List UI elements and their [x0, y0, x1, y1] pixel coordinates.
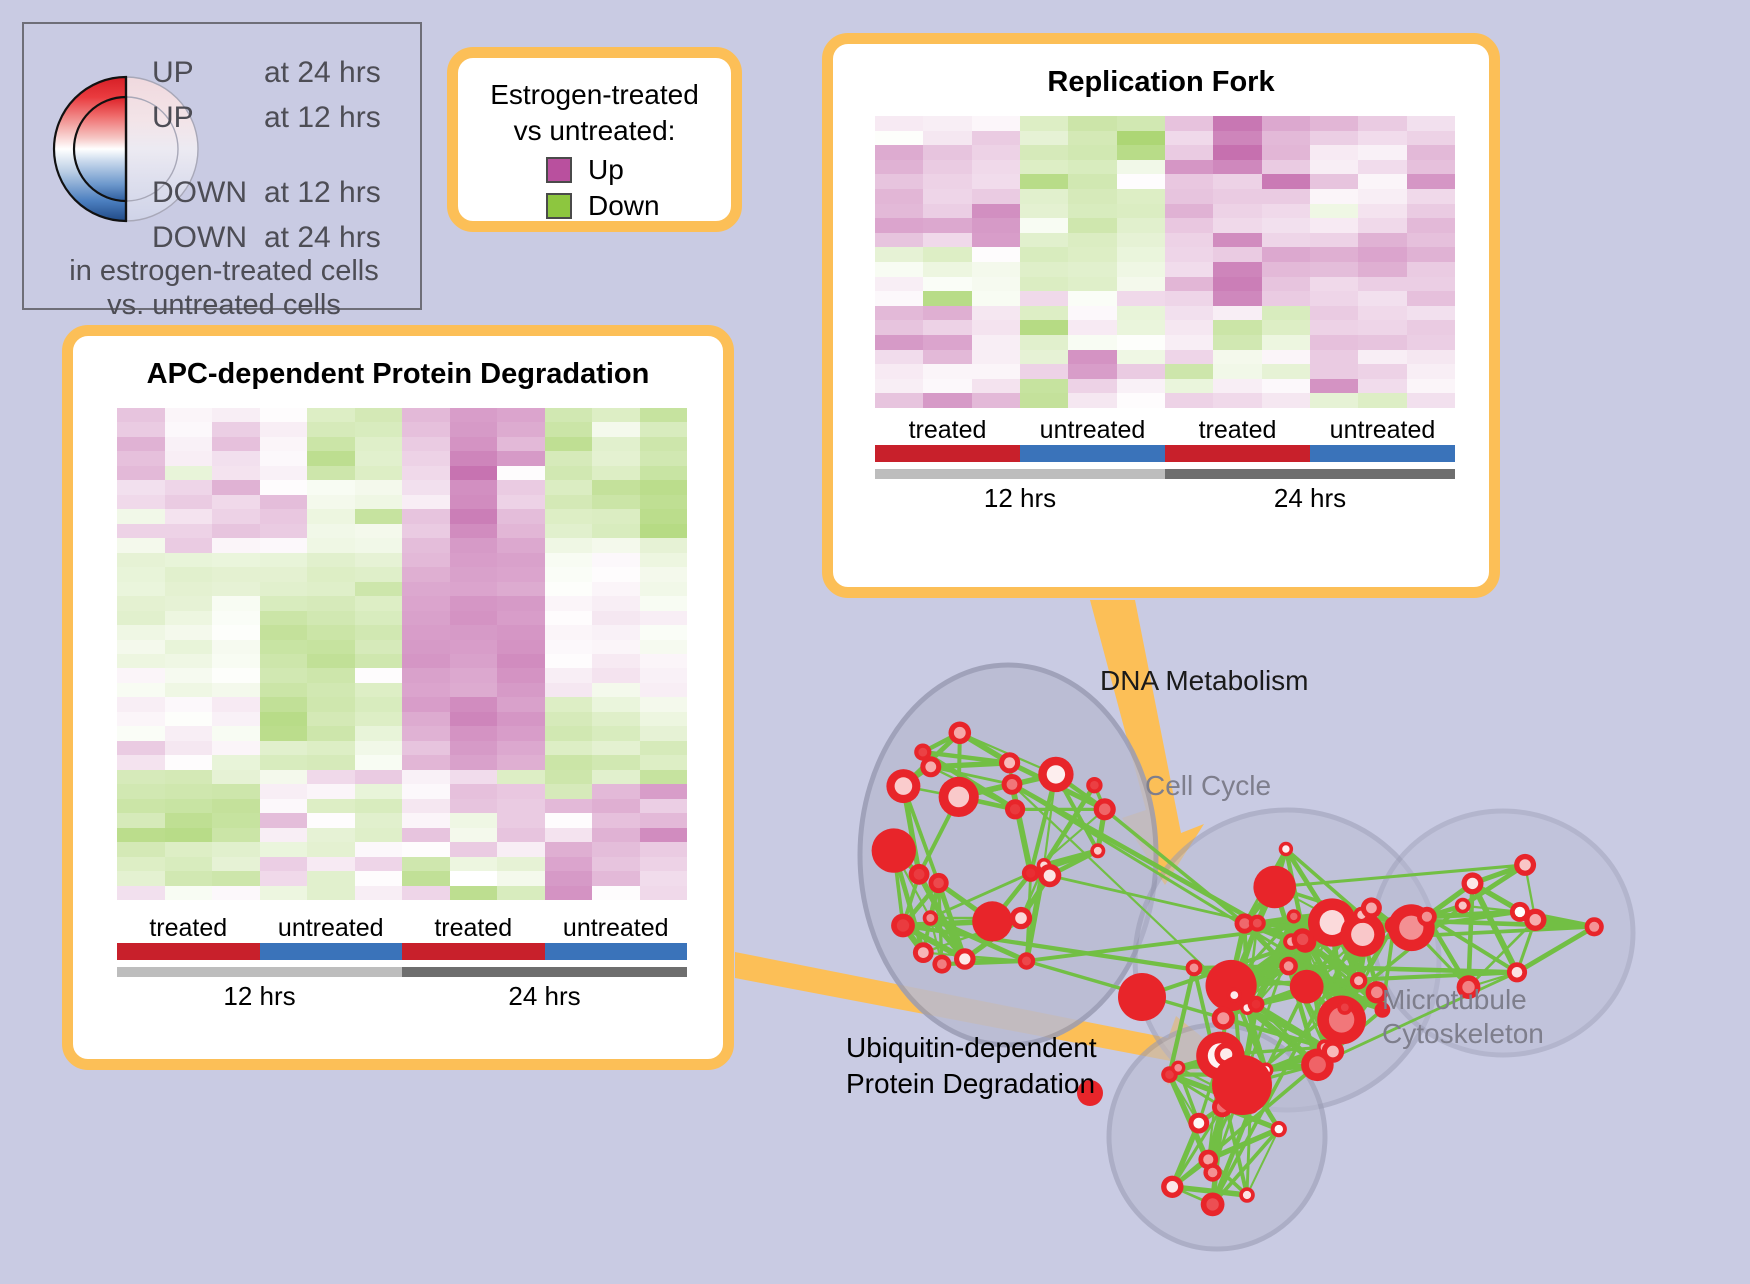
- heatmap-cell: [1262, 189, 1310, 204]
- node-inner-fill: [926, 914, 934, 922]
- heatmap-cell: [212, 799, 260, 813]
- heatmap-cell: [592, 596, 640, 610]
- heatmap-cell: [260, 726, 308, 740]
- heatmap-cell: [1117, 350, 1165, 365]
- heatmap-cell: [592, 697, 640, 711]
- heatmap-cell: [545, 683, 593, 697]
- timepoint-bar-segment: [402, 967, 687, 977]
- heatmap-cell: [117, 422, 165, 436]
- heatmap-cell: [117, 567, 165, 581]
- network-node[interactable]: [1350, 972, 1367, 989]
- heatmap-cell: [117, 770, 165, 784]
- heatmap-cell: [212, 726, 260, 740]
- network-node[interactable]: [1212, 1007, 1235, 1030]
- network-node[interactable]: [1514, 854, 1536, 876]
- heatmap-cell: [592, 408, 640, 422]
- network-node[interactable]: [1038, 757, 1073, 792]
- heatmap-cell: [1165, 174, 1213, 189]
- heatmap-cell: [450, 480, 498, 494]
- network-node[interactable]: [1253, 866, 1296, 909]
- heatmap-cell: [1020, 131, 1068, 146]
- heatmap-cell: [1165, 145, 1213, 160]
- condition-label: untreated: [545, 914, 688, 943]
- network-node[interactable]: [1188, 1113, 1209, 1134]
- heatmap-cell: [165, 755, 213, 769]
- condition-bar-segment: [402, 943, 545, 960]
- network-node[interactable]: [923, 910, 938, 925]
- heatmap-cell: [592, 437, 640, 451]
- heatmap-cell: [165, 422, 213, 436]
- heatmap-cell: [355, 640, 403, 654]
- heatmap-cell: [450, 813, 498, 827]
- network-node[interactable]: [1201, 1193, 1225, 1217]
- legend-item-up: Up: [546, 152, 731, 188]
- heatmap-cell: [307, 640, 355, 654]
- heatmap-cell: [165, 784, 213, 798]
- network-node[interactable]: [1186, 960, 1203, 977]
- node-inner-fill: [1282, 845, 1289, 852]
- network-node[interactable]: [1322, 1040, 1345, 1063]
- network-node[interactable]: [1090, 843, 1105, 858]
- heatmap-cell: [307, 683, 355, 697]
- heatmap-cell: [402, 886, 450, 900]
- node-inner-fill: [897, 919, 909, 931]
- node-inner-fill: [1094, 847, 1102, 855]
- node-outer-ring: [1253, 866, 1296, 909]
- heatmap-cell: [212, 654, 260, 668]
- heatmap-cell: [355, 495, 403, 509]
- node-inner-fill: [948, 787, 969, 808]
- node-inner-fill: [1007, 779, 1018, 790]
- network-node[interactable]: [1086, 777, 1102, 793]
- heatmap-cell: [545, 755, 593, 769]
- heatmap-cell: [592, 654, 640, 668]
- network-node[interactable]: [929, 873, 949, 893]
- network-node[interactable]: [1290, 970, 1324, 1004]
- heatmap-cell: [212, 770, 260, 784]
- heatmap-cell: [1117, 306, 1165, 321]
- heatmap-cell: [212, 495, 260, 509]
- network-node[interactable]: [1287, 909, 1301, 923]
- network-node[interactable]: [1462, 872, 1484, 894]
- heatmap-cell: [497, 582, 545, 596]
- heatmap-cell: [212, 886, 260, 900]
- node-inner-fill: [1044, 870, 1056, 882]
- heatmap-cell: [1117, 189, 1165, 204]
- heatmap-cell: [640, 466, 688, 480]
- heatmap-cell: [545, 784, 593, 798]
- heatmap-cell: [307, 741, 355, 755]
- network-node[interactable]: [1022, 864, 1040, 882]
- heatmap-cell: [355, 842, 403, 856]
- heatmap-cell: [545, 437, 593, 451]
- heatmap-cell: [355, 726, 403, 740]
- heatmap-cell: [1407, 291, 1455, 306]
- node-inner-fill: [914, 869, 925, 880]
- heatmap-cell: [307, 886, 355, 900]
- heatmap-cell: [1117, 364, 1165, 379]
- heatmap-cell: [1310, 160, 1358, 175]
- heatmap-cell: [165, 799, 213, 813]
- heatmap-cell: [875, 393, 923, 408]
- heatmap-cell: [545, 697, 593, 711]
- heatmap-cell: [972, 306, 1020, 321]
- heatmap-cell: [972, 218, 1020, 233]
- spacer: [152, 140, 418, 170]
- heatmap-cell: [1165, 204, 1213, 219]
- heatmap-cell: [1310, 233, 1358, 248]
- heatmap-cell: [212, 451, 260, 465]
- heatmap-cell: [355, 567, 403, 581]
- heatmap-cell: [923, 379, 971, 394]
- node-inner-fill: [1010, 804, 1020, 814]
- heatmap-cell: [450, 596, 498, 610]
- heatmap-cell: [260, 640, 308, 654]
- heatmap-cell: [972, 131, 1020, 146]
- network-node[interactable]: [1094, 798, 1116, 820]
- function-enrichment-network: DNA Metabolism Cell Cycle Microtubule Cy…: [790, 615, 1750, 1279]
- network-node[interactable]: [1507, 962, 1527, 982]
- legend-item-down: Down: [546, 188, 731, 224]
- network-node[interactable]: [954, 948, 976, 970]
- heatmap-cell: [307, 422, 355, 436]
- heatmap-cell: [1407, 277, 1455, 292]
- heatmap-cell: [212, 857, 260, 871]
- heatmap-cell: [450, 697, 498, 711]
- heatmap-cell: [640, 451, 688, 465]
- heatmap-cell: [875, 364, 923, 379]
- network-node[interactable]: [1161, 1176, 1183, 1198]
- heatmap-cell: [307, 567, 355, 581]
- network-node[interactable]: [1279, 842, 1293, 856]
- heatmap-cell: [212, 741, 260, 755]
- heatmap-cell: [1165, 218, 1213, 233]
- heatmap-cell: [497, 755, 545, 769]
- heatmap-cell: [165, 828, 213, 842]
- heatmap-cell: [1262, 218, 1310, 233]
- heatmap-cell: [640, 726, 688, 740]
- heatmap-cell: [1262, 335, 1310, 350]
- heatmap-cell: [592, 726, 640, 740]
- network-node[interactable]: [1227, 988, 1242, 1003]
- heatmap-cell: [1068, 145, 1116, 160]
- heatmap-cell: [450, 755, 498, 769]
- node-inner-fill: [1090, 781, 1099, 790]
- heatmap-cell: [1213, 306, 1261, 321]
- network-node[interactable]: [1455, 898, 1471, 914]
- condition-label: treated: [117, 914, 260, 943]
- heatmap-cell: [307, 582, 355, 596]
- heatmap-cell: [1165, 379, 1213, 394]
- node-inner-fill: [1243, 1191, 1251, 1199]
- network-node[interactable]: [1248, 996, 1265, 1013]
- heatmap-cell: [260, 842, 308, 856]
- heatmap-cell: [260, 495, 308, 509]
- heatmap-cell: [165, 741, 213, 755]
- heatmap-cell: [1213, 291, 1261, 306]
- heatmap-cell: [355, 828, 403, 842]
- heatmap-cell: [212, 466, 260, 480]
- network-node[interactable]: [1279, 957, 1298, 976]
- heatmap-cell: [307, 871, 355, 885]
- heatmap-cell: [923, 131, 971, 146]
- heatmap-cell: [923, 320, 971, 335]
- heatmap-cell: [165, 697, 213, 711]
- heatmap-cell: [545, 726, 593, 740]
- heatmap-cell: [592, 625, 640, 639]
- heatmap-cell: [117, 596, 165, 610]
- heatmap-cell: [1358, 145, 1406, 160]
- heatmap-cell: [592, 886, 640, 900]
- heatmap-cell: [117, 495, 165, 509]
- node-inner-fill: [1515, 907, 1525, 917]
- heatmap-cell: [1358, 320, 1406, 335]
- heatmap-cell: [212, 422, 260, 436]
- network-node[interactable]: [1212, 1055, 1272, 1115]
- condition-bar-segment: [260, 943, 403, 960]
- node-outer-ring: [1118, 973, 1166, 1021]
- heatmap-cell: [450, 726, 498, 740]
- heatmap-cell: [1020, 174, 1068, 189]
- heatmap-cell: [497, 770, 545, 784]
- heatmap-cell: [450, 741, 498, 755]
- timepoint-label: 12 hrs: [875, 483, 1165, 514]
- heatmap-cell: [1407, 247, 1455, 262]
- network-node[interactable]: [972, 901, 1012, 941]
- heatmap-cell: [640, 813, 688, 827]
- heatmap-cell: [165, 466, 213, 480]
- heatmap-cell: [875, 174, 923, 189]
- heatmap-cell: [1310, 218, 1358, 233]
- heatmap-cell: [545, 654, 593, 668]
- heatmap-cell: [1165, 277, 1213, 292]
- apc-degradation-panel: APC-dependent Protein Degradation treate…: [62, 325, 734, 1070]
- network-node[interactable]: [1171, 1061, 1185, 1075]
- condition-bar-segment: [545, 943, 688, 960]
- heatmap-cell: [1310, 320, 1358, 335]
- heatmap-cell: [450, 799, 498, 813]
- heatmap-cell: [307, 524, 355, 538]
- node-inner-fill: [933, 878, 944, 889]
- heatmap-cell: [307, 596, 355, 610]
- heatmap-cell: [1020, 116, 1068, 131]
- network-node[interactable]: [1510, 902, 1530, 922]
- legend-heading-line1: Estrogen-treated: [458, 78, 731, 112]
- heatmap-cell: [875, 131, 923, 146]
- node-inner-fill: [1099, 804, 1111, 816]
- heatmap-cell: [260, 480, 308, 494]
- heatmap-cell: [212, 640, 260, 654]
- heatmap-cell: [307, 480, 355, 494]
- heatmap-cell: [1262, 364, 1310, 379]
- heatmap-cell: [212, 784, 260, 798]
- heatmap-cell: [260, 582, 308, 596]
- heatmap-cell: [1213, 379, 1261, 394]
- node-inner-fill: [1530, 914, 1542, 926]
- heatmap-cell: [212, 538, 260, 552]
- heatmap-cell: [260, 625, 308, 639]
- network-node[interactable]: [949, 722, 972, 745]
- heatmap-cell: [592, 813, 640, 827]
- heatmap-cell: [497, 567, 545, 581]
- network-node[interactable]: [891, 914, 915, 938]
- network-node[interactable]: [920, 756, 941, 777]
- heatmap-cell: [450, 668, 498, 682]
- heatmap-cell: [450, 524, 498, 538]
- heatmap-cell: [545, 509, 593, 523]
- heatmap-cell: [355, 784, 403, 798]
- heatmap-cell: [307, 668, 355, 682]
- heatmap-cell: [355, 668, 403, 682]
- heatmap-cell: [545, 422, 593, 436]
- heatmap-cell: [1310, 262, 1358, 277]
- network-node[interactable]: [1038, 864, 1061, 887]
- heatmap-cell: [260, 886, 308, 900]
- network-node[interactable]: [872, 828, 916, 872]
- heatmap-cell: [307, 726, 355, 740]
- condition-label: treated: [402, 914, 545, 943]
- heatmap-cell: [1020, 218, 1068, 233]
- heatmap-cell: [260, 509, 308, 523]
- heatmap-cell: [1358, 218, 1406, 233]
- heatmap-cell: [640, 668, 688, 682]
- timepoint-labels-replication-fork: 12 hrs24 hrs: [875, 483, 1455, 514]
- network-node[interactable]: [1249, 915, 1266, 932]
- network-node[interactable]: [1337, 1000, 1352, 1015]
- heatmap-cell: [165, 640, 213, 654]
- heatmap-cell: [117, 654, 165, 668]
- heatmap-cell: [1165, 364, 1213, 379]
- heatmap-cell: [497, 654, 545, 668]
- network-node[interactable]: [1005, 799, 1025, 819]
- ring-legend-direction: UP: [152, 95, 264, 140]
- network-node[interactable]: [913, 942, 934, 963]
- heatmap-cell: [307, 611, 355, 625]
- heatmap-cell: [1407, 320, 1455, 335]
- heatmap-cell: [1020, 320, 1068, 335]
- heatmap-cell: [1020, 364, 1068, 379]
- heatmap-cell: [1020, 233, 1068, 248]
- node-inner-fill: [1252, 1000, 1261, 1009]
- heatmap-cell: [1262, 306, 1310, 321]
- heatmap-cell: [117, 437, 165, 451]
- heatmap-replication-fork: [875, 116, 1455, 408]
- network-node[interactable]: [1239, 1187, 1255, 1203]
- node-inner-fill: [918, 947, 929, 958]
- heatmap-cell: [1165, 247, 1213, 262]
- timepoint-label: 12 hrs: [117, 981, 402, 1012]
- heatmap-cell: [497, 871, 545, 885]
- network-node[interactable]: [932, 955, 951, 974]
- heatmap-cell: [212, 509, 260, 523]
- heatmap-cell: [1165, 189, 1213, 204]
- up-label: Up: [588, 154, 624, 186]
- heatmap-cell: [355, 886, 403, 900]
- heatmap-cell: [117, 625, 165, 639]
- condition-label: untreated: [1020, 416, 1165, 445]
- network-node[interactable]: [1203, 1163, 1221, 1181]
- heatmap-cell: [402, 813, 450, 827]
- node-inner-fill: [1512, 967, 1523, 978]
- network-node[interactable]: [1271, 1121, 1287, 1137]
- heatmap-cell: [355, 755, 403, 769]
- network-node[interactable]: [1002, 774, 1023, 795]
- heatmap-cell: [545, 668, 593, 682]
- network-node[interactable]: [909, 864, 930, 885]
- heatmap-cell: [260, 524, 308, 538]
- heatmap-cell: [1213, 160, 1261, 175]
- heatmap-cell: [1213, 189, 1261, 204]
- heatmap-cell: [592, 857, 640, 871]
- heatmap-cell: [260, 466, 308, 480]
- heatmap-cell: [1068, 306, 1116, 321]
- heatmap-cell: [1068, 364, 1116, 379]
- heatmap-cell: [307, 495, 355, 509]
- node-inner-fill: [1459, 902, 1467, 910]
- heatmap-cell: [117, 784, 165, 798]
- heatmap-cell: [450, 451, 498, 465]
- node-inner-fill: [954, 727, 966, 739]
- heatmap-cell: [1068, 291, 1116, 306]
- timepoint-bar-segment: [117, 967, 402, 977]
- heatmap-cell: [402, 524, 450, 538]
- heatmap-cell: [450, 886, 498, 900]
- node-inner-fill: [1297, 934, 1308, 945]
- network-node[interactable]: [939, 777, 979, 817]
- network-node[interactable]: [1585, 917, 1604, 936]
- up-color-swatch: [546, 157, 572, 183]
- heatmap-cell: [212, 625, 260, 639]
- heatmap-cell: [497, 813, 545, 827]
- heatmap-cell: [212, 871, 260, 885]
- heatmap-cell: [165, 712, 213, 726]
- heatmap-cell: [450, 784, 498, 798]
- heatmap-cell: [1020, 291, 1068, 306]
- heatmap-cell: [165, 857, 213, 871]
- heatmap-cell: [972, 364, 1020, 379]
- network-node[interactable]: [1010, 907, 1032, 929]
- network-node[interactable]: [1361, 897, 1382, 918]
- heatmap-cell: [923, 189, 971, 204]
- heatmap-cell: [165, 611, 213, 625]
- network-node[interactable]: [1417, 907, 1437, 927]
- node-inner-fill: [895, 777, 913, 795]
- heatmap-cell: [972, 277, 1020, 292]
- heatmap-cell: [640, 437, 688, 451]
- network-node[interactable]: [1018, 952, 1035, 969]
- ring-legend-direction: DOWN: [152, 170, 264, 215]
- heatmap-cell: [355, 683, 403, 697]
- heatmap-cell: [875, 204, 923, 219]
- heatmap-cell: [355, 466, 403, 480]
- heatmap-cell: [260, 799, 308, 813]
- heatmap-cell: [1407, 131, 1455, 146]
- heatmap-cell: [923, 174, 971, 189]
- network-node[interactable]: [1118, 973, 1166, 1021]
- heatmap-cell: [165, 524, 213, 538]
- network-node[interactable]: [886, 769, 920, 803]
- node-inner-fill: [1004, 757, 1015, 768]
- heatmap-cell: [592, 842, 640, 856]
- panel-title-apc: APC-dependent Protein Degradation: [73, 358, 723, 391]
- heatmap-cell: [972, 393, 1020, 408]
- heatmap-cell: [212, 480, 260, 494]
- network-node[interactable]: [999, 752, 1020, 773]
- node-inner-fill: [1174, 1064, 1182, 1072]
- heatmap-cell: [1068, 277, 1116, 292]
- network-node[interactable]: [1292, 928, 1314, 950]
- heatmap-cell: [497, 697, 545, 711]
